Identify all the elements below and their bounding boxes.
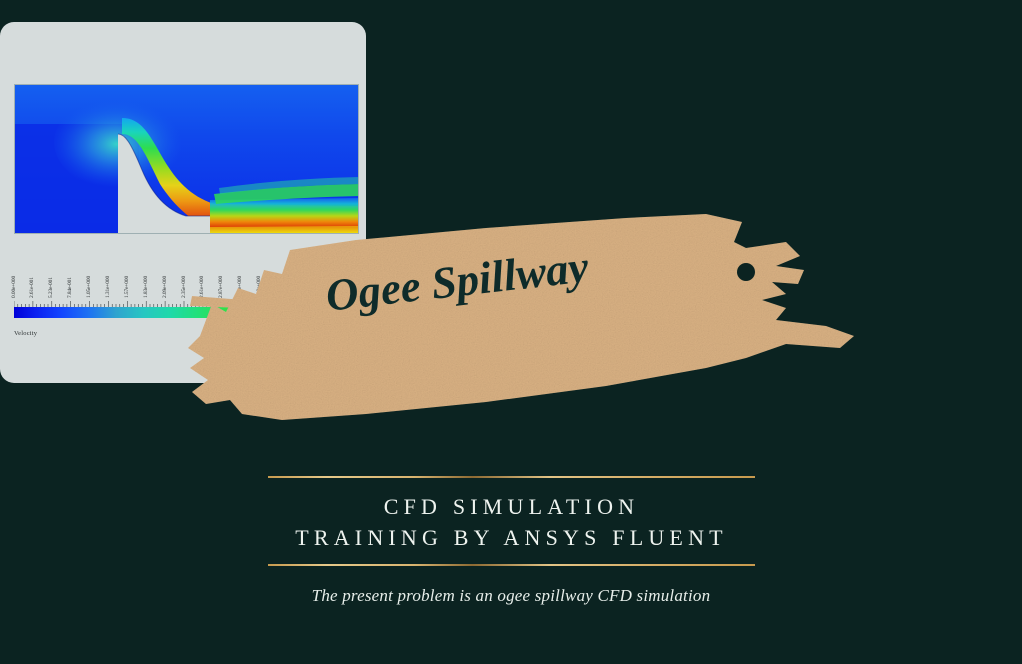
colorbar-tick-label: 2.09e+000 xyxy=(162,276,168,298)
colorbar-tick-label: 1.83e+000 xyxy=(143,276,149,298)
colorbar-tick-label: 1.31e+000 xyxy=(105,276,111,298)
colorbar-tick-label: 0.00e+000 xyxy=(11,276,17,298)
banner-brush-shape xyxy=(186,208,856,423)
colorbar-tick-label: 1.57e+000 xyxy=(124,276,130,298)
subtitle-lines: CFD SIMULATION TRAINING BY ANSYS FLUENT xyxy=(268,478,755,564)
colorbar-tick-label: 1.05e+000 xyxy=(86,276,92,298)
colorbar-tick-label: 7.84e-001 xyxy=(67,277,73,298)
title-banner: Ogee Spillway xyxy=(186,208,856,423)
subtitle-line-2: TRAINING BY ANSYS FLUENT xyxy=(268,522,755,553)
colorbar-tick-label: 5.23e-001 xyxy=(48,277,54,298)
colorbar-tick-label: 2.61e-001 xyxy=(29,277,35,298)
tagline: The present problem is an ogee spillway … xyxy=(0,586,1022,606)
gold-divider-bottom xyxy=(268,564,755,566)
subtitle-block: CFD SIMULATION TRAINING BY ANSYS FLUENT xyxy=(268,476,755,566)
subtitle-line-1: CFD SIMULATION xyxy=(268,491,755,522)
